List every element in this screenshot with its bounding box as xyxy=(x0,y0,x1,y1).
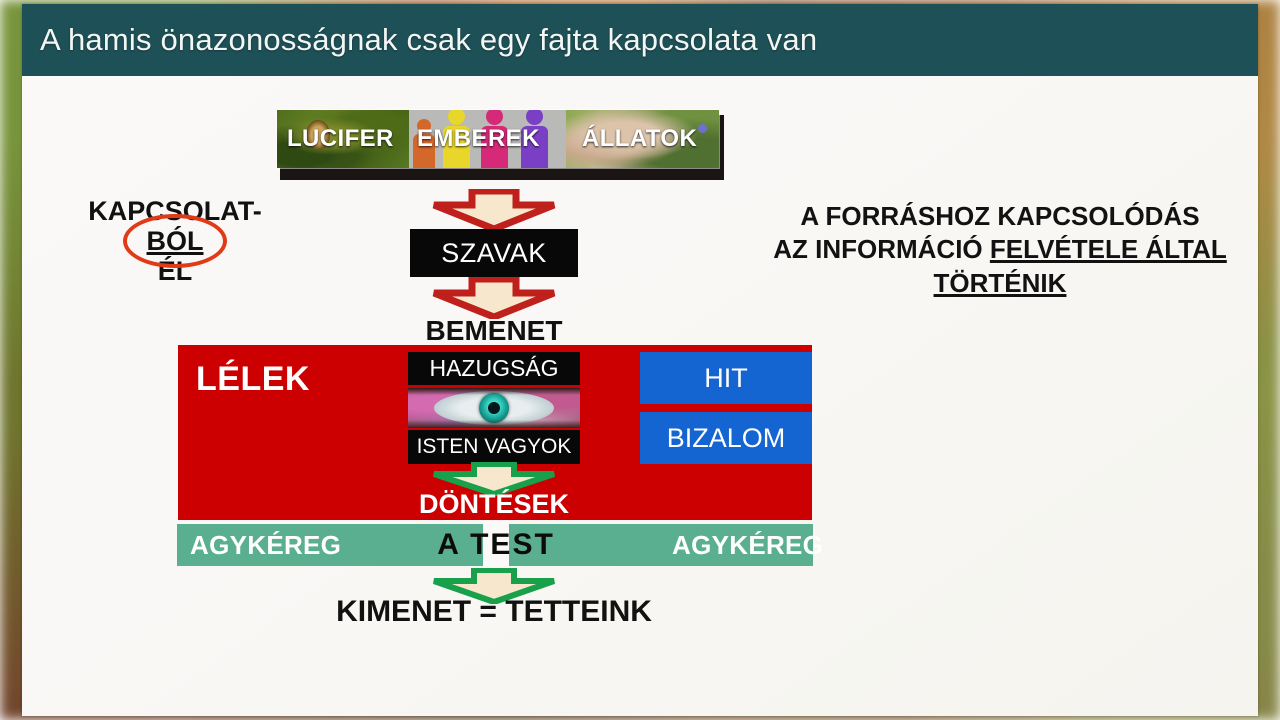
identity-box: ISTEN VAGYOK xyxy=(408,430,580,464)
eye-lower-lid xyxy=(408,420,580,428)
left-line-1: KAPCSOLAT- xyxy=(60,196,290,226)
source-panel-allatok: ÁLLATOK xyxy=(566,110,719,168)
right-text-block: A FORRÁSHOZ KAPCSOLÓDÁS AZ INFORMÁCIÓ FE… xyxy=(745,200,1255,300)
right-line-2-plain: AZ INFORMÁCIÓ xyxy=(773,234,990,264)
decisions-label: DÖNTÉSEK xyxy=(338,489,650,520)
source-panel-label-allatok: ÁLLATOK xyxy=(566,125,697,153)
right-line-2-underlined: FELVÉTELE ÁLTAL xyxy=(990,234,1227,264)
right-line-3-underlined: TÖRTÉNIK xyxy=(934,268,1067,298)
words-box: SZAVAK xyxy=(410,229,578,277)
source-panel-lucifer: LUCIFER xyxy=(277,110,409,168)
left-line-2-wrapper: BÓL xyxy=(147,226,204,256)
output-label: KIMENET = TETTEINK xyxy=(268,595,720,629)
source-strip: LUCIFER EMBEREK ÁLLATOK xyxy=(276,109,720,174)
faith-box: HIT xyxy=(640,352,812,404)
cortex-label-left: AGYKÉREG xyxy=(190,530,341,561)
soul-panel-label: LÉLEK xyxy=(196,360,310,399)
input-label: BEMENET xyxy=(338,315,650,347)
down-arrow-red-icon xyxy=(430,189,558,231)
body-label: A TEST xyxy=(396,528,596,562)
slide-title-bar: A hamis önazonosságnak csak egy fajta ka… xyxy=(22,4,1258,76)
eye-pupil xyxy=(488,402,500,414)
cortex-label-right: AGYKÉREG xyxy=(672,530,823,561)
right-line-3: TÖRTÉNIK xyxy=(745,267,1255,300)
source-panel-label-lucifer: LUCIFER xyxy=(277,125,394,153)
source-panel-emberek: EMBEREK xyxy=(409,110,566,168)
page-title: A hamis önazonosságnak csak egy fajta ka… xyxy=(22,22,817,58)
down-arrow-red-icon xyxy=(430,277,558,319)
source-panel-label-emberek: EMBEREK xyxy=(409,125,540,153)
left-text-block: KAPCSOLAT- BÓL ÉL xyxy=(60,196,290,287)
right-line-1: A FORRÁSHOZ KAPCSOLÓDÁS xyxy=(745,200,1255,233)
left-line-3: ÉL xyxy=(60,256,290,286)
lie-box: HAZUGSÁG xyxy=(408,352,580,385)
right-line-2: AZ INFORMÁCIÓ FELVÉTELE ÁLTAL xyxy=(745,233,1255,266)
eye-upper-lid xyxy=(408,388,580,395)
left-line-2: BÓL xyxy=(147,226,204,256)
eye-image xyxy=(408,388,580,428)
trust-box: BIZALOM xyxy=(640,412,812,464)
source-strip-panels: LUCIFER EMBEREK ÁLLATOK xyxy=(276,109,720,169)
